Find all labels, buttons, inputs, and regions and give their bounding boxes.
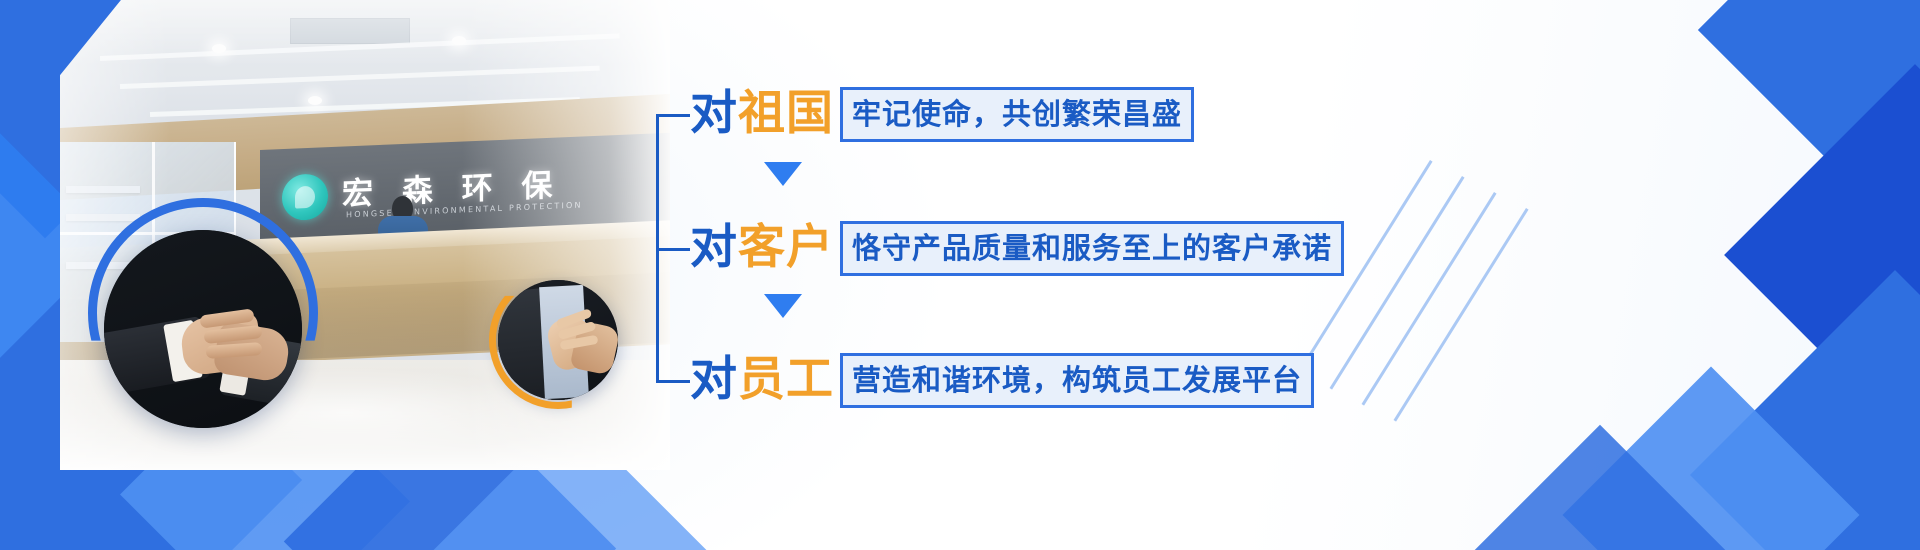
connector-tick-2 — [656, 248, 690, 251]
value-lead-prefix-employee: 对 — [690, 352, 738, 407]
connector-tick-1 — [656, 114, 690, 117]
value-lead-nation: 对祖国 — [690, 82, 834, 146]
value-lead-employee: 对员工 — [690, 348, 834, 412]
company-values-banner: 宏 森 环 保 HONGSEN ENVIRONMENTAL PROTECTION — [0, 0, 1920, 550]
value-row-employee: 对员工 营造和谐环境，构筑员工发展平台 — [690, 348, 1314, 412]
value-row-nation: 对祖国 牢记使命，共创繁荣昌盛 — [690, 82, 1194, 146]
value-lead-customer: 对客户 — [690, 216, 834, 280]
down-arrow-icon-2 — [764, 294, 802, 318]
value-lead-highlight-customer: 客户 — [738, 220, 834, 275]
connector-tick-3 — [656, 380, 690, 383]
value-tag-nation: 牢记使命，共创繁荣昌盛 — [840, 87, 1194, 142]
down-arrow-icon-1 — [764, 162, 802, 186]
value-row-customer: 对客户 恪守产品质量和服务至上的客户承诺 — [690, 216, 1344, 280]
value-lead-highlight-nation: 祖国 — [738, 86, 834, 141]
values-content: 对祖国 牢记使命，共创繁荣昌盛 对客户 恪守产品质量和服务至上的客户承诺 对员工… — [656, 82, 1376, 402]
value-tag-employee: 营造和谐环境，构筑员工发展平台 — [840, 353, 1314, 408]
value-lead-prefix-customer: 对 — [690, 220, 738, 275]
value-tag-customer: 恪守产品质量和服务至上的客户承诺 — [840, 221, 1344, 276]
value-lead-prefix-nation: 对 — [690, 86, 738, 141]
value-lead-highlight-employee: 员工 — [738, 352, 834, 407]
